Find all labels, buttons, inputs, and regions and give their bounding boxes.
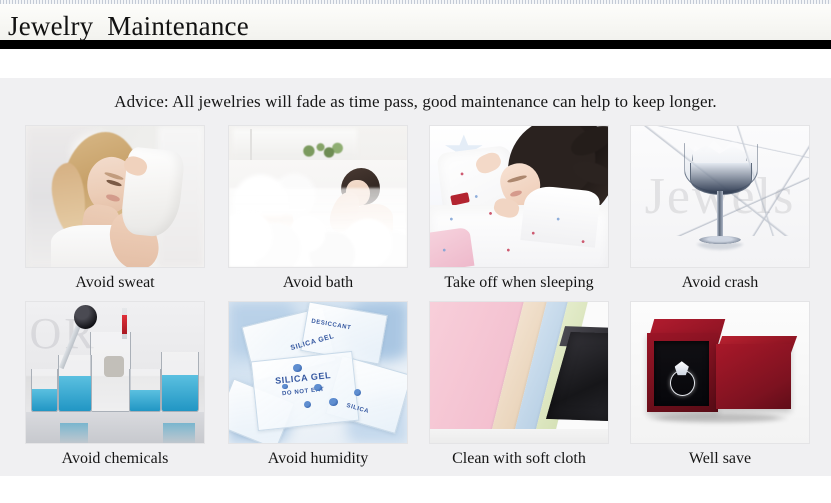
liquid-reflection bbox=[163, 423, 195, 443]
header-black-bar bbox=[0, 40, 831, 49]
wine-glass-liquid bbox=[690, 163, 753, 195]
cell-caption: Avoid chemicals bbox=[25, 449, 205, 469]
cell-caption: Well save bbox=[630, 449, 810, 469]
silica-gel-packets-photo: SILICA GEL DESICCANT SILICA GEL DO NOT E… bbox=[228, 301, 408, 444]
page-title: Jewelry Maintenance bbox=[8, 10, 249, 42]
grid-cell-well-save: Well save bbox=[630, 301, 810, 469]
window-frame-bar bbox=[250, 129, 252, 160]
red-ring-boxes-with-diamond-ring-photo bbox=[630, 301, 810, 444]
beaker-medium-right bbox=[161, 352, 199, 412]
wine-glass-stem bbox=[717, 191, 723, 239]
grid-cell-avoid-humidity: SILICA GEL DESICCANT SILICA GEL DO NOT E… bbox=[228, 301, 408, 469]
thermometer-red-liquid bbox=[122, 315, 127, 335]
foam-bubbles bbox=[229, 188, 407, 267]
cell-caption: Avoid sweat bbox=[25, 273, 205, 293]
silica-bead bbox=[329, 398, 338, 406]
grid-cell-take-off-when-sleeping: Take off when sleeping bbox=[429, 125, 609, 293]
cell-caption: Avoid crash bbox=[630, 273, 810, 293]
laboratory-beakers-photo: OR bbox=[25, 301, 205, 444]
cell-caption: Avoid bath bbox=[228, 273, 408, 293]
shattering-wine-glass-photo: Jewels bbox=[630, 125, 810, 268]
advice-text: Advice: All jewelries will fade as time … bbox=[0, 92, 831, 112]
grid-cell-avoid-sweat: Avoid sweat bbox=[25, 125, 205, 293]
woman-sleeping-on-pillow-photo bbox=[429, 125, 609, 268]
stacked-pastel-cloths-photo bbox=[429, 301, 609, 444]
grid-row: OR bbox=[0, 301, 831, 477]
beaker-small-right bbox=[129, 369, 161, 412]
grid-cell-clean-with-soft-cloth: Clean with soft cloth bbox=[429, 301, 609, 469]
grid-cell-avoid-crash: Jewels Avoid crash bbox=[630, 125, 810, 293]
cell-caption: Take off when sleeping bbox=[429, 273, 609, 293]
grid-row: Avoid sweat bbox=[0, 125, 831, 301]
surface-reflection bbox=[692, 242, 749, 252]
beaker-label bbox=[104, 356, 124, 377]
box-shadow-ellipse bbox=[645, 413, 791, 423]
woman-in-bubble-bath-photo bbox=[228, 125, 408, 268]
silica-bead bbox=[304, 401, 311, 408]
silica-bead bbox=[314, 384, 321, 391]
silica-bead bbox=[282, 384, 287, 390]
page-header: Jewelry Maintenance bbox=[0, 4, 831, 40]
beaker-liquid bbox=[59, 376, 91, 411]
beaker-liquid bbox=[32, 389, 57, 411]
woman-wiping-sweat-with-towel-photo bbox=[25, 125, 205, 268]
grid-cell-avoid-chemicals: OR bbox=[25, 301, 205, 469]
jewelry-maintenance-page: Jewelry Maintenance Advice: All jewelrie… bbox=[0, 0, 831, 503]
content-panel: Advice: All jewelries will fade as time … bbox=[0, 78, 831, 476]
grid-cell-avoid-bath: Avoid bath bbox=[228, 125, 408, 293]
maintenance-grid: Avoid sweat bbox=[0, 125, 831, 477]
beaker-small-left bbox=[31, 369, 58, 412]
surface-shadow bbox=[430, 429, 608, 443]
cell-caption: Avoid humidity bbox=[228, 449, 408, 469]
beaker-liquid bbox=[162, 375, 198, 411]
header-spacer bbox=[0, 49, 831, 78]
bedding-dot-pattern bbox=[430, 126, 608, 267]
liquid-reflection bbox=[60, 423, 88, 443]
pipette-bulb bbox=[74, 305, 97, 329]
closed-ring-box bbox=[716, 344, 791, 409]
beaker-liquid bbox=[130, 390, 160, 411]
cell-caption: Clean with soft cloth bbox=[429, 449, 609, 469]
